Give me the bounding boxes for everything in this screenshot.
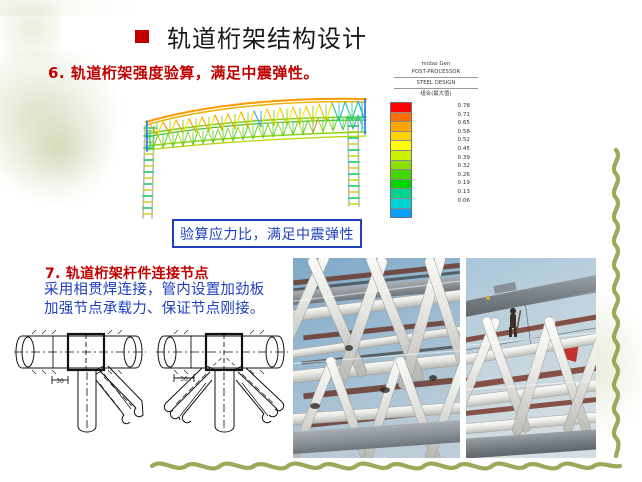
legend-swatch-6 — [391, 161, 411, 171]
legend-software-name: midas Gen — [388, 60, 484, 68]
legend-swatch-10 — [391, 199, 411, 209]
slide-canvas: 轨道桁架结构设计 6. 轨道桁架强度验算，满足中震弹性。 — [0, 0, 642, 482]
legend-value-6: 0.39 — [416, 154, 484, 163]
legend-value-2: 0.65 — [416, 119, 484, 128]
fea-truss-stress-figure — [130, 84, 392, 224]
legend-scale: 0.780.710.650.580.520.450.390.320.260.19… — [388, 102, 484, 218]
legend-quantity-label: 组合(最大值) — [388, 90, 484, 99]
legend-module-name: POST-PROCESSOR — [388, 68, 484, 76]
page-title: 轨道桁架结构设计 — [167, 19, 367, 54]
legend-swatch-5 — [391, 151, 411, 161]
section-7-heading: 7. 轨道桁架杆件连接节点 — [45, 263, 209, 283]
joint-detail-left: 30 — [8, 322, 153, 437]
joint-detail-right: 30 — [150, 322, 295, 437]
section-7-body-line-2: 加强节点承载力、保证节点刚接。 — [44, 300, 265, 319]
legend-value-8: 0.26 — [416, 171, 484, 180]
legend-swatch-9 — [391, 189, 411, 199]
slide-title-row: 轨道桁架结构设计 — [135, 19, 367, 54]
section-6-number: 6. — [48, 64, 65, 82]
legend-swatch-3 — [391, 132, 411, 142]
section-7-body-line-1: 采用相贯焊连接，管内设置加劲板 — [44, 281, 265, 300]
legend-swatch-0 — [391, 103, 411, 113]
photo-truss-node-closeup — [293, 258, 460, 458]
legend-swatch-11 — [391, 209, 411, 218]
legend-value-5: 0.45 — [416, 145, 484, 154]
section-7-body: 采用相贯焊连接，管内设置加劲板 加强节点承载力、保证节点刚接。 — [44, 281, 265, 319]
legend-value-1: 0.71 — [416, 111, 484, 120]
legend-value-7: 0.32 — [416, 162, 484, 171]
legend-swatch-7 — [391, 170, 411, 180]
stress-ratio-caption-text: 验算应力比，满足中震弹性 — [180, 224, 354, 244]
legend-analysis-type: STEEL DESIGN — [388, 79, 484, 87]
leaf-watermark-left-2 — [4, 94, 114, 204]
legend-value-0: 0.78 — [416, 102, 484, 111]
legend-swatch-4 — [391, 141, 411, 151]
section-7-number: 7. — [45, 266, 61, 282]
section-6-title: 轨道桁架强度验算，满足中震弹性。 — [71, 64, 319, 82]
legend-value-list: 0.780.710.650.580.520.450.390.320.260.19… — [412, 102, 484, 218]
legend-color-swatches — [390, 102, 412, 218]
joint-2-dimension-label: 30 — [180, 376, 188, 383]
vine-border-right — [604, 148, 630, 458]
legend-value-10: 0.13 — [416, 188, 484, 197]
legend-value-3: 0.58 — [416, 128, 484, 137]
legend-swatch-1 — [391, 113, 411, 123]
legend-swatch-8 — [391, 180, 411, 190]
legend-divider-2 — [394, 88, 478, 89]
stress-ratio-caption-box: 验算应力比，满足中震弹性 — [172, 219, 362, 248]
joint-1-dimension-label: 30 — [56, 378, 64, 385]
legend-value-11: 0.06 — [416, 197, 484, 206]
square-bullet-icon — [135, 30, 149, 43]
background-wash — [0, 0, 642, 16]
midas-legend-panel: midas Gen POST-PROCESSOR STEEL DESIGN 组合… — [388, 60, 484, 220]
legend-value-4: 0.52 — [416, 136, 484, 145]
legend-swatch-2 — [391, 122, 411, 132]
photo-truss-erection — [466, 258, 596, 458]
legend-value-9: 0.19 — [416, 179, 484, 188]
section-6-heading: 6. 轨道桁架强度验算，满足中震弹性。 — [48, 62, 319, 83]
legend-divider-1 — [394, 77, 478, 78]
section-7-title: 轨道桁架杆件连接节点 — [66, 266, 209, 282]
